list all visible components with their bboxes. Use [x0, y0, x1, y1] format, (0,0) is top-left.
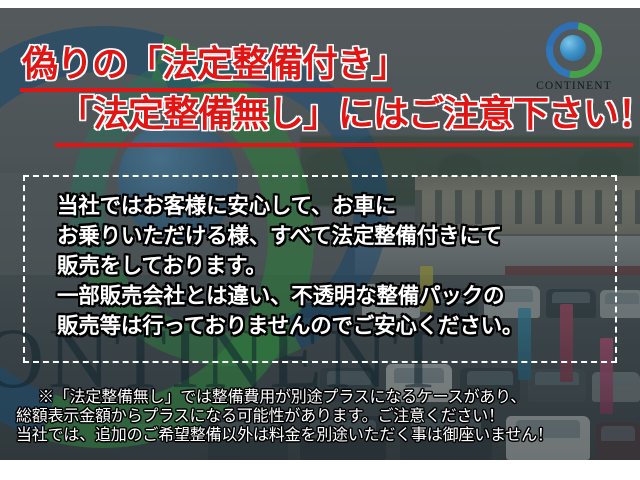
footnote-line-2: 総額表示金額からプラスになる可能性があります。ご注意ください！	[16, 407, 638, 426]
message-line-4: 一部販売会社とは違い、不透明な整備パックの	[57, 281, 617, 311]
message-line-2: お乗りいただける様、すべて法定整備付きにて	[57, 221, 617, 251]
message-line-1: 当社ではお客様に安心して、お車に	[57, 191, 617, 221]
continent-swirl-logo-icon	[546, 22, 602, 78]
headline-underline-2	[55, 143, 633, 147]
message-text-block: 当社ではお客様に安心して、お車に お乗りいただける様、すべて法定整備付きにて 販…	[57, 191, 617, 341]
footnote-line-1: ※「法定整備無し」では整備費用が別途プラスになるケースがあり、	[38, 388, 638, 407]
headline-line-2: 「法定整備無し」にはご注意下さい！	[0, 94, 640, 134]
brand-name-text: CONTINENT	[526, 80, 622, 92]
message-dashed-box: 当社ではお客様に安心して、お車に お乗りいただける様、すべて法定整備付きにて 販…	[23, 175, 617, 363]
message-line-5: 販売等は行っておりませんのでご安心ください。	[57, 311, 617, 341]
message-line-3: 販売をしております。	[57, 251, 617, 281]
brand-logo: CONTINENT	[526, 22, 622, 92]
promo-banner: ONTINENT CONTINENT 偽りの「法定整備付き」 「法定整備無し」に…	[0, 0, 640, 480]
footnote-line-3: 当社では、追加のご希望整備以外は料金を別途いただく事は御座いません！	[16, 426, 638, 445]
footnote-block: ※「法定整備無し」では整備費用が別途プラスになるケースがあり、 総額表示金額から…	[38, 388, 638, 445]
headline-underline-1	[20, 88, 392, 92]
